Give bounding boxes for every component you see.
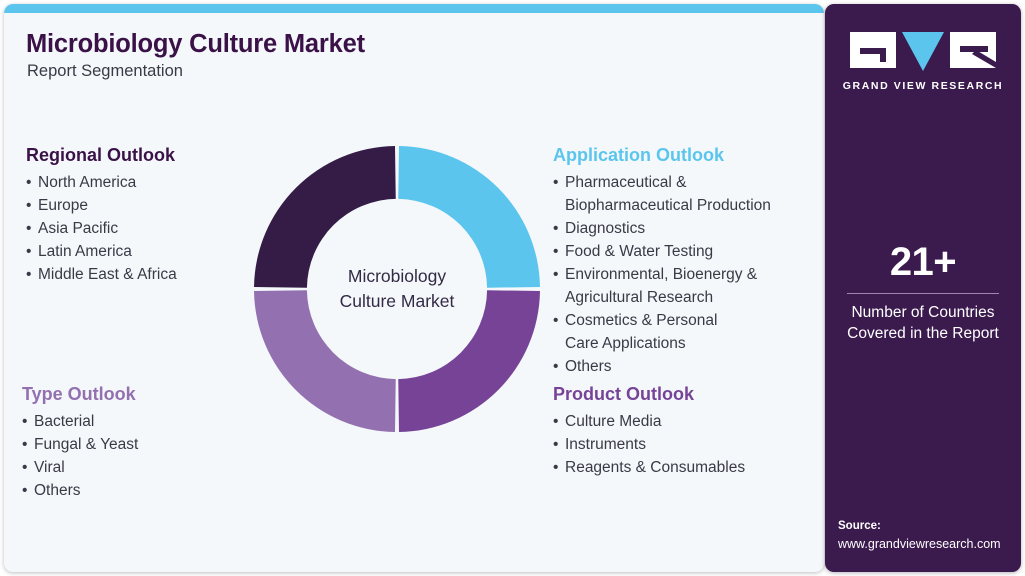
product-outlook-heading: Product Outlook (553, 383, 821, 406)
list-item: Middle East & Africa (26, 263, 256, 286)
list-item: Bacterial (22, 410, 252, 433)
regional-outlook-list: North America Europe Asia Pacific Latin … (26, 171, 256, 286)
page-title: Microbiology Culture Market (26, 30, 365, 59)
list-item: Fungal & Yeast (22, 433, 252, 456)
donut-segment (254, 146, 396, 288)
regional-outlook-section: Regional Outlook North America Europe As… (26, 144, 256, 286)
list-item: Environmental, Bioenergy & Agricultural … (553, 263, 821, 309)
list-item: Latin America (26, 240, 256, 263)
main-content-panel: Microbiology Culture Market Report Segme… (4, 4, 824, 572)
countries-stat-label: Number of Countries Covered in the Repor… (825, 303, 1021, 345)
list-item: Cosmetics & Personal Care Applications (553, 309, 821, 355)
list-item: Reagents & Consumables (553, 456, 821, 479)
source-footer: Source: www.grandviewresearch.com (838, 518, 1018, 553)
list-item: Pharmaceutical & Biopharmaceutical Produ… (553, 171, 821, 217)
segmentation-donut-chart: Microbiology Culture Market (253, 145, 541, 433)
v-triangle-mark-icon (900, 32, 946, 72)
list-item: Others (22, 479, 252, 502)
brand-sidebar: GRAND VIEW RESEARCH 21+ Number of Countr… (825, 4, 1021, 572)
list-item: Instruments (553, 433, 821, 456)
list-item: Asia Pacific (26, 217, 256, 240)
top-accent-bar (4, 4, 824, 13)
type-outlook-heading: Type Outlook (22, 383, 252, 406)
donut-segment (398, 290, 540, 432)
source-label: Source: (838, 518, 1018, 535)
list-item: Culture Media (553, 410, 821, 433)
application-outlook-heading: Application Outlook (553, 144, 821, 167)
regional-outlook-heading: Regional Outlook (26, 144, 256, 167)
grand-view-research-logo: GRAND VIEW RESEARCH (825, 32, 1021, 92)
countries-stat-block: 21+ Number of Countries Covered in the R… (825, 242, 1021, 345)
application-outlook-section: Application Outlook Pharmaceutical & Bio… (553, 144, 821, 378)
g-letter-mark-icon (850, 32, 896, 68)
source-url: www.grandviewresearch.com (838, 535, 1018, 553)
product-outlook-list: Culture Media Instruments Reagents & Con… (553, 410, 821, 479)
donut-svg (253, 145, 541, 433)
list-item: Diagnostics (553, 217, 821, 240)
page-subtitle: Report Segmentation (27, 62, 183, 81)
r-letter-mark-icon (950, 32, 996, 68)
list-item: Food & Water Testing (553, 240, 821, 263)
type-outlook-section: Type Outlook Bacterial Fungal & Yeast Vi… (22, 383, 252, 502)
list-item: Others (553, 355, 821, 378)
infographic-page: Microbiology Culture Market Report Segme… (0, 0, 1025, 576)
type-outlook-list: Bacterial Fungal & Yeast Viral Others (22, 410, 252, 502)
list-item: Europe (26, 194, 256, 217)
logo-wordmark: GRAND VIEW RESEARCH (843, 80, 1004, 92)
donut-segment (254, 290, 396, 432)
donut-segment (398, 146, 540, 288)
logo-marks (850, 32, 996, 72)
list-item: North America (26, 171, 256, 194)
product-outlook-section: Product Outlook Culture Media Instrument… (553, 383, 821, 479)
countries-stat-number: 21+ (825, 242, 1021, 282)
application-outlook-list: Pharmaceutical & Biopharmaceutical Produ… (553, 171, 821, 379)
list-item: Viral (22, 456, 252, 479)
stat-divider (847, 293, 999, 294)
